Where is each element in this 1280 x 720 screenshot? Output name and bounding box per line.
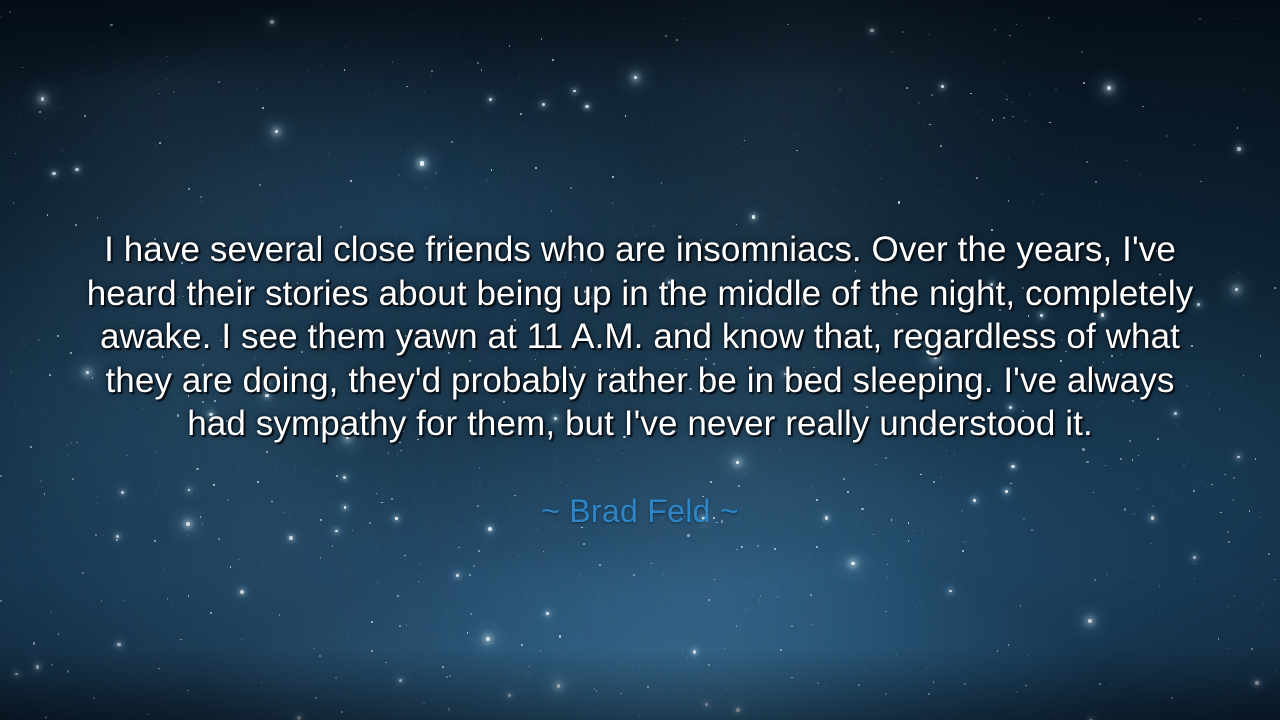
quote-card: I have several close friends who are ins…	[0, 0, 1280, 720]
quote-block: I have several close friends who are ins…	[0, 228, 1280, 530]
quote-author: ~ Brad Feld ~	[78, 446, 1202, 530]
quote-text: I have several close friends who are ins…	[78, 228, 1202, 446]
